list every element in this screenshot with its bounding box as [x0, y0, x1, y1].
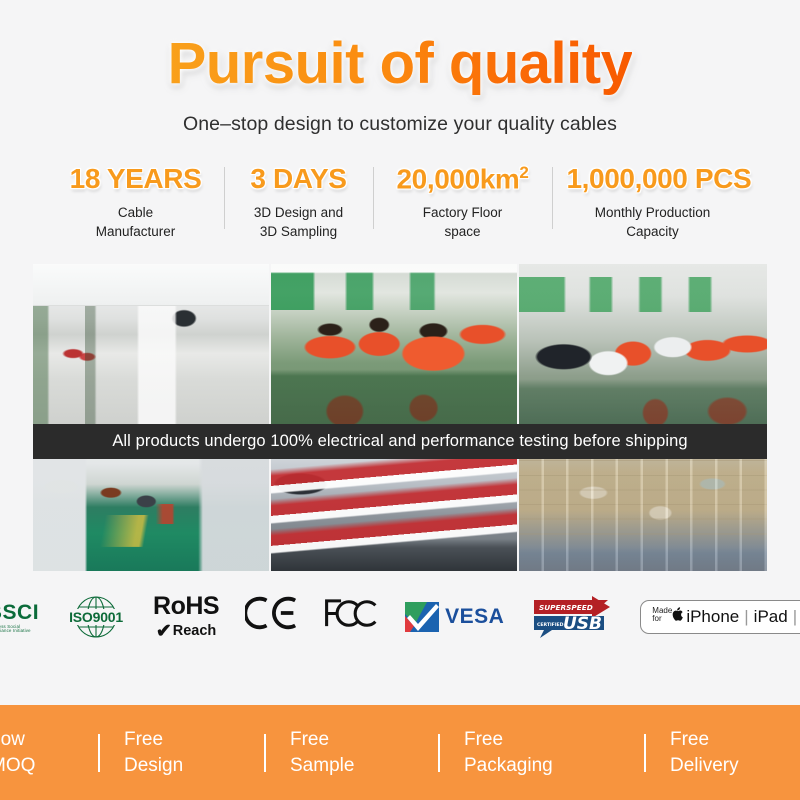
- apple-logo-icon: [672, 607, 684, 626]
- svg-text:SUPERSPEED: SUPERSPEED: [539, 603, 593, 612]
- iso9001-globe-icon: ISO9001: [65, 595, 127, 639]
- stats-row: 18 YEARS Cable Manufacturer 3 DAYS 3D De…: [0, 163, 800, 242]
- reach-label: Reach: [173, 624, 217, 639]
- benefit-free-sample: Free Sample: [290, 727, 438, 777]
- stat-label: Monthly Production Capacity: [567, 204, 739, 241]
- stat-value-text: 20,000km: [397, 163, 520, 194]
- vesa-checkmark-icon: [405, 602, 439, 632]
- stat-label: Cable Manufacturer: [62, 204, 210, 241]
- photo-row-top: [33, 264, 767, 424]
- stat-label-line1: 3D Design and: [254, 205, 343, 220]
- stat-item-years: 18 YEARS Cable Manufacturer: [48, 163, 224, 241]
- apple-devices-row: iPhone | iPad | iPod: [672, 607, 800, 626]
- stat-value: 1,000,000 PCS: [567, 163, 739, 195]
- benefit-line2: Design: [124, 755, 183, 776]
- stat-label-line2: Manufacturer: [96, 224, 176, 239]
- benefit-line2: MOQ: [0, 755, 35, 776]
- bsci-text-block: BSCI Business Social Compliance Initiati…: [0, 602, 39, 634]
- stat-item-floor-space: 20,000km2 Factory Floor space: [374, 163, 552, 242]
- product-feature-page: Pursuit of quality One–stop design to cu…: [0, 0, 800, 800]
- hero-section: Pursuit of quality One–stop design to cu…: [0, 0, 800, 136]
- benefit-divider: [644, 734, 646, 772]
- vesa-label: VESA: [445, 605, 504, 629]
- stat-label: 3D Design and 3D Sampling: [239, 204, 359, 241]
- stat-label-line2: space: [444, 224, 480, 239]
- benefit-free-design: Free Design: [124, 727, 264, 777]
- benefit-line1: Free: [124, 729, 163, 750]
- stat-label: Factory Floor space: [388, 204, 538, 241]
- cert-superspeed-usb: SUPERSPEED CERTIFIED USB: [530, 594, 614, 640]
- stat-value-superscript: 2: [519, 163, 528, 182]
- factory-photo-gallery: All products undergo 100% electrical and…: [33, 264, 767, 571]
- stat-value: 3 DAYS: [239, 163, 359, 195]
- certification-logos-row: BSCI Business Social Compliance Initiati…: [0, 581, 800, 653]
- check-icon: ✔: [156, 622, 172, 641]
- benefit-free-delivery: Free Delivery: [670, 727, 800, 777]
- photo-production-line-workers: [519, 264, 767, 424]
- ipad-label: iPad: [754, 608, 788, 625]
- stat-item-days: 3 DAYS 3D Design and 3D Sampling: [225, 163, 373, 241]
- separator: |: [793, 608, 797, 625]
- stat-value: 18 YEARS: [62, 163, 210, 195]
- separator: |: [744, 608, 748, 625]
- bsci-subtitle: Business Social Compliance Initiative: [0, 625, 39, 634]
- cert-fcc: [323, 597, 379, 638]
- benefit-divider: [98, 734, 100, 772]
- cert-vesa: VESA: [405, 602, 504, 632]
- svg-text:USB: USB: [563, 614, 602, 634]
- benefit-divider: [264, 734, 266, 772]
- photo-workers-assembling-cables: [271, 264, 517, 424]
- benefit-divider: [438, 734, 440, 772]
- cert-bsci: BSCI Business Social Compliance Initiati…: [0, 602, 39, 634]
- ce-mark-icon: [245, 596, 297, 638]
- iphone-label: iPhone: [686, 608, 739, 625]
- bsci-name: BSCI: [0, 601, 39, 624]
- stat-label-line1: Factory Floor: [423, 205, 503, 220]
- page-subtitle: One–stop design to customize your qualit…: [0, 113, 800, 136]
- stat-label-line1: Cable: [118, 205, 153, 220]
- stat-item-capacity: 1,000,000 PCS Monthly Production Capacit…: [553, 163, 753, 241]
- fcc-mark-icon: [323, 597, 379, 638]
- benefit-line1: Low: [0, 729, 25, 750]
- rohs-label: RoHS: [153, 594, 219, 619]
- photo-factory-workshop-aisle: [33, 264, 269, 424]
- benefit-line2: Sample: [290, 755, 354, 776]
- benefit-line1: Free: [464, 729, 503, 750]
- cert-iso9001: ISO9001: [65, 595, 127, 639]
- stat-label-line1: Monthly Production: [595, 205, 711, 220]
- benefit-free-packaging: Free Packaging: [464, 727, 644, 777]
- page-title: Pursuit of quality: [168, 34, 633, 95]
- cert-rohs: RoHS ✔ Reach: [153, 594, 219, 641]
- benefit-line2: Packaging: [464, 755, 553, 776]
- superspeed-usb-icon: SUPERSPEED CERTIFIED USB: [530, 594, 614, 640]
- cert-made-for-apple: Made for iPhone | iPad | iPod: [640, 600, 800, 634]
- benefit-line1: Free: [290, 729, 329, 750]
- iso9001-label: ISO9001: [65, 609, 127, 625]
- stat-value: 20,000km2: [388, 163, 538, 195]
- service-benefits-bar: Low MOQ Free Design Free Sample Free Pac…: [0, 705, 800, 800]
- stat-label-line2: 3D Sampling: [260, 224, 337, 239]
- benefit-line2: Delivery: [670, 755, 739, 776]
- made-for-label: Made for: [652, 607, 672, 623]
- stat-label-line2: Capacity: [626, 224, 679, 239]
- cert-ce: [245, 596, 297, 638]
- benefit-low-moq: Low MOQ: [0, 727, 98, 777]
- svg-text:CERTIFIED: CERTIFIED: [537, 622, 564, 628]
- rohs-reach-row: ✔ Reach: [156, 622, 216, 641]
- benefit-line1: Free: [670, 729, 709, 750]
- testing-banner: All products undergo 100% electrical and…: [33, 424, 767, 459]
